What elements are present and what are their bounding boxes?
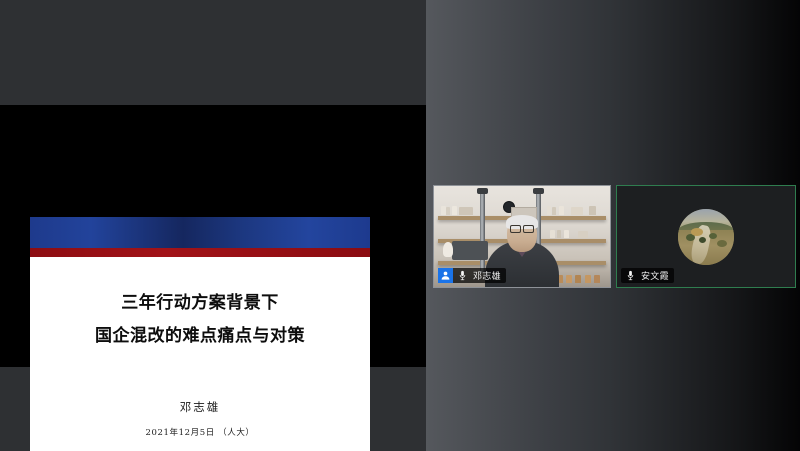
screen-share-region[interactable]: 三年行动方案背景下 国企混改的难点痛点与对策 邓志雄 2021年12月5日 （人… [0, 0, 426, 451]
book [559, 206, 564, 215]
monitor-object [452, 241, 488, 260]
microphone-icon [623, 268, 638, 283]
participant-tile-an[interactable]: 安文霞 [616, 185, 796, 288]
book [552, 207, 556, 215]
shelf-post-cap-left [477, 188, 488, 194]
shelf-post-left [480, 190, 485, 273]
book [441, 206, 446, 215]
participant-name: 安文霞 [641, 269, 669, 282]
book [575, 275, 581, 283]
meeting-window: 三年行动方案背景下 国企混改的难点痛点与对策 邓志雄 2021年12月5日 （人… [0, 0, 800, 451]
book [452, 206, 457, 215]
book [578, 231, 588, 237]
slide-header-red-band [30, 248, 370, 257]
book [459, 207, 473, 215]
avatar-bush [709, 233, 717, 239]
book [571, 207, 583, 215]
glasses-icon [510, 225, 534, 231]
slide-author: 邓志雄 [30, 399, 370, 415]
book [547, 206, 551, 215]
avatar [678, 209, 734, 265]
book [564, 230, 569, 237]
share-letterbox: 三年行动方案背景下 国企混改的难点痛点与对策 邓志雄 2021年12月5日 （人… [0, 105, 426, 367]
participant-gallery: 邓志雄 [426, 0, 800, 451]
slide-title-line-2: 国企混改的难点痛点与对策 [30, 326, 370, 346]
person-icon [438, 268, 453, 283]
book [446, 207, 450, 215]
slide-body: 三年行动方案背景下 国企混改的难点痛点与对策 邓志雄 2021年12月5日 （人… [30, 257, 370, 451]
presentation-slide[interactable]: 三年行动方案背景下 国企混改的难点痛点与对策 邓志雄 2021年12月5日 （人… [30, 217, 370, 451]
participant-name-badge: 安文霞 [621, 268, 674, 283]
participant-tile-deng[interactable]: 邓志雄 [433, 185, 611, 288]
book [557, 230, 561, 237]
participant-name: 邓志雄 [473, 269, 501, 282]
book [589, 206, 596, 215]
slide-header-blue-band [30, 217, 370, 248]
slide-title-line-1: 三年行动方案背景下 [30, 293, 370, 313]
slide-date: 2021年12月5日 （人大） [30, 426, 370, 438]
shelf-post-cap-right [533, 188, 544, 194]
microphone-icon [455, 268, 470, 283]
book [566, 275, 572, 283]
book [594, 275, 600, 283]
book [585, 275, 591, 283]
avatar-bush [686, 234, 695, 241]
participant-name-badge: 邓志雄 [438, 268, 506, 283]
lamp-object [443, 242, 453, 257]
book [550, 230, 555, 237]
